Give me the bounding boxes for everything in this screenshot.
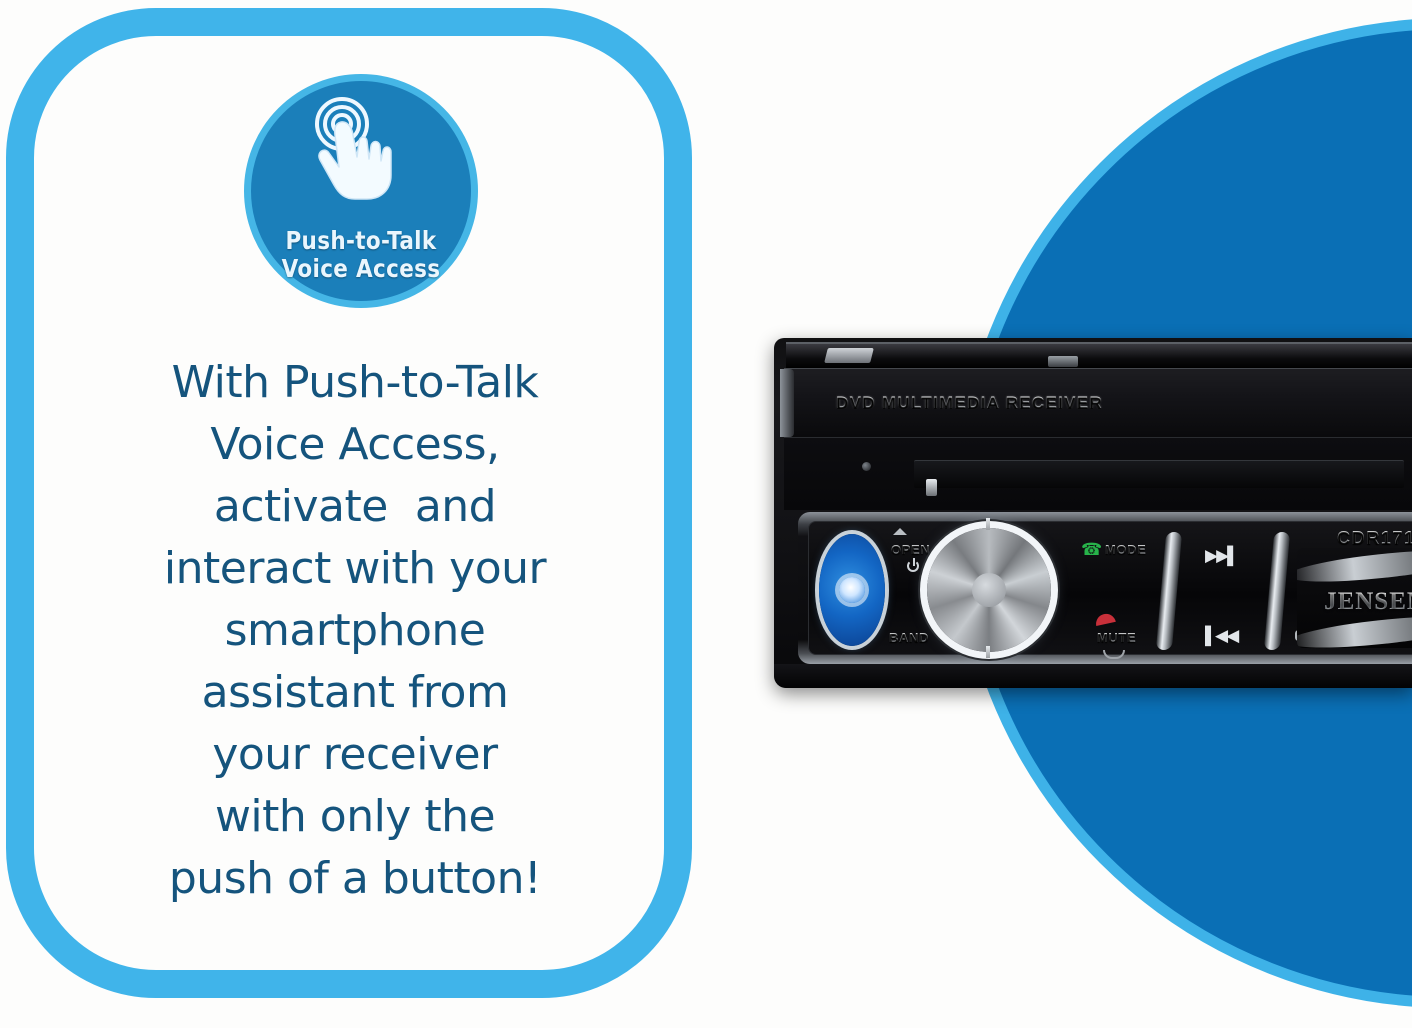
badge-caption: Push-to-Talk Voice Access	[266, 227, 455, 283]
blurb-line-7: your receiver	[70, 724, 640, 786]
power-button-core-icon	[839, 577, 865, 603]
next-track-icon[interactable]: ▶▶▌	[1205, 546, 1237, 566]
receiver-top-lip	[786, 342, 1412, 368]
lip-chrome-chip	[824, 348, 874, 363]
control-panel: OPEN BAND ☎ MODE MUTE ▶▶▌ ▌◀◀ CDR171 MIC	[808, 521, 1412, 655]
band-button-label[interactable]: BAND	[889, 630, 929, 645]
blurb-line-4: interact with your	[70, 538, 640, 600]
push-to-talk-badge: Push-to-Talk Voice Access	[244, 74, 478, 308]
knob-tick-bottom-icon	[986, 646, 990, 658]
badge-line-2: Voice Access	[266, 255, 455, 283]
promo-graphic: Push-to-Talk Voice Access With Push-to-T…	[0, 0, 1412, 1028]
feature-description: With Push-to-Talk Voice Access, activate…	[70, 352, 640, 910]
volume-knob[interactable]	[927, 528, 1051, 652]
brand-name-label: JENSEN	[1305, 588, 1412, 616]
knob-tick-top-icon	[986, 518, 990, 530]
call-end-icon	[1094, 612, 1116, 626]
brand-swoosh-top-icon	[1297, 548, 1412, 588]
eject-icon	[893, 528, 907, 535]
blurb-line-6: assistant from	[70, 662, 640, 724]
reset-hole-icon[interactable]	[862, 462, 871, 471]
power-eject-button[interactable]	[819, 534, 885, 646]
blurb-line-2: Voice Access,	[70, 414, 640, 476]
blurb-line-5: smartphone	[70, 600, 640, 662]
product-type-label: DVD MULTIMEDIA RECEIVER	[836, 393, 1103, 413]
phone-handset-icon	[1103, 650, 1125, 659]
rocker-switch-right[interactable]	[1264, 532, 1290, 650]
blurb-line-9: push of a button!	[70, 848, 640, 910]
mode-button-label[interactable]: MODE	[1105, 542, 1146, 557]
mute-button-label[interactable]: MUTE	[1097, 630, 1136, 645]
open-button-label[interactable]: OPEN	[891, 542, 930, 557]
brand-plate: JENSEN	[1297, 548, 1412, 648]
model-number-label: CDR171	[1337, 528, 1412, 549]
push-to-talk-hand-tap-icon	[295, 95, 427, 205]
badge-line-1: Push-to-Talk	[266, 227, 455, 255]
slot-indicator-icon	[926, 479, 937, 496]
receiver-disc-slot-area	[784, 438, 1412, 510]
car-stereo-receiver: DVD MULTIMEDIA RECEIVER OPEN BAND ☎	[774, 338, 1412, 688]
control-bezel: OPEN BAND ☎ MODE MUTE ▶▶▌ ▌◀◀ CDR171 MIC	[798, 512, 1412, 664]
lip-nub	[1048, 356, 1078, 367]
blurb-line-8: with only the	[70, 786, 640, 848]
disc-slot[interactable]	[914, 460, 1404, 488]
call-answer-icon: ☎	[1081, 542, 1097, 558]
blurb-line-1: With Push-to-Talk	[70, 352, 640, 414]
receiver-faceplate-band: DVD MULTIMEDIA RECEIVER	[784, 368, 1412, 438]
previous-track-icon[interactable]: ▌◀◀	[1205, 626, 1237, 646]
power-symbol-icon	[907, 560, 919, 572]
receiver-bottom-edge	[774, 664, 1412, 688]
rocker-switch-left[interactable]	[1156, 532, 1182, 650]
blurb-line-3: activate and	[70, 476, 640, 538]
